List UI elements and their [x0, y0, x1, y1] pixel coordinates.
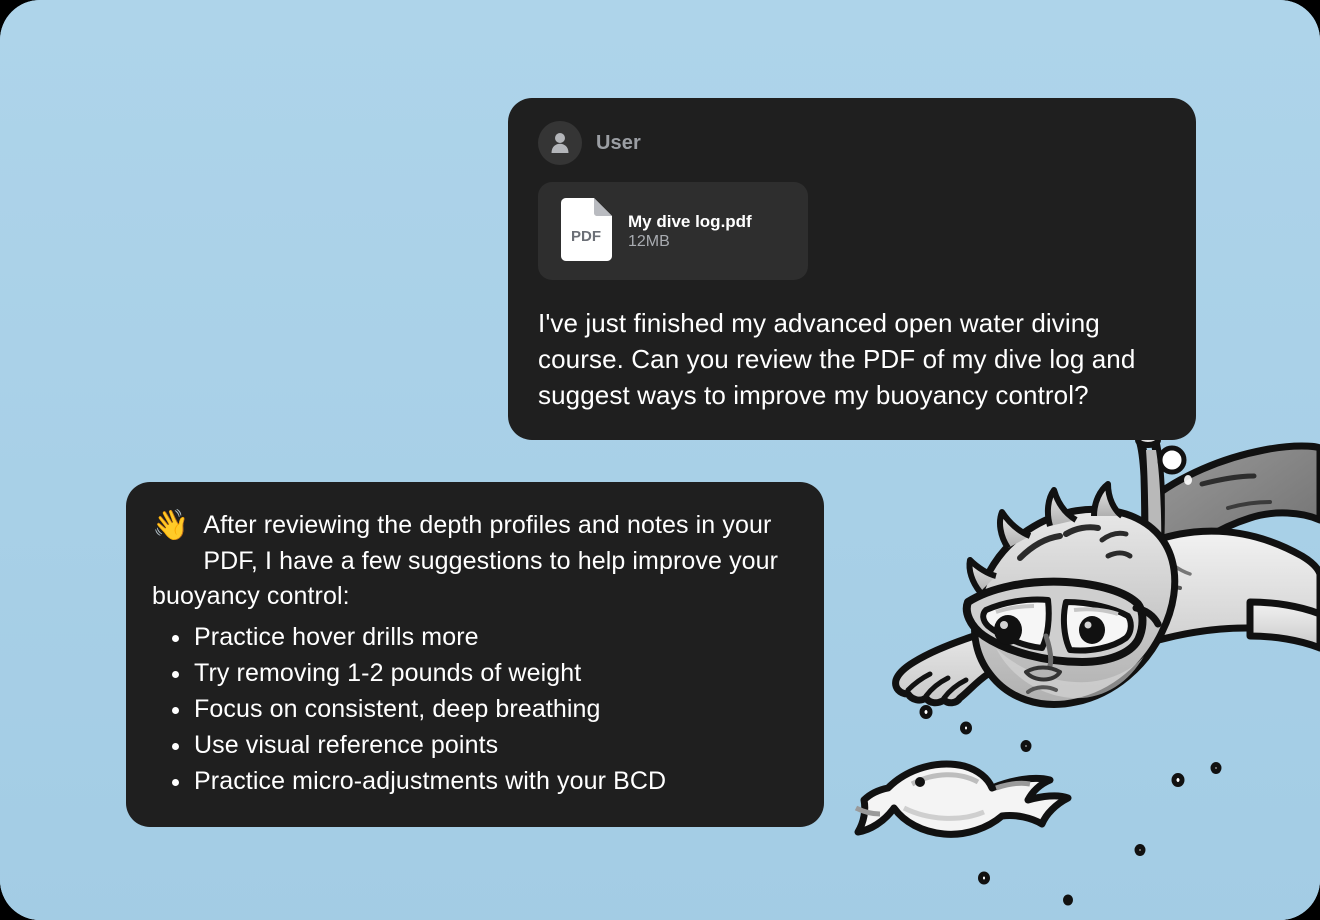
pdf-file-icon: PDF — [556, 198, 612, 264]
waving-hand-emoji: 👋 — [152, 508, 189, 545]
list-item: Practice hover drills more — [194, 619, 794, 655]
user-role-label: User — [596, 132, 641, 155]
app-canvas: User PDF My dive log.pdf 12MB I've just … — [0, 0, 1320, 920]
list-item: Practice micro-adjustments with your BCD — [194, 763, 794, 799]
user-message-text: I've just finished my advanced open wate… — [538, 306, 1168, 414]
user-header: User — [538, 120, 1168, 166]
file-meta: My dive log.pdf 12MB — [628, 211, 790, 251]
snorkeler-diving-illustration — [850, 380, 1320, 920]
diver-figure — [896, 435, 1320, 704]
attachment-card[interactable]: PDF My dive log.pdf 12MB — [538, 182, 808, 280]
fish-illustration — [856, 764, 1068, 834]
list-item: Try removing 1-2 pounds of weight — [194, 655, 794, 691]
assistant-message-bubble: 👋 After reviewing the depth profiles and… — [126, 482, 824, 827]
assistant-intro-text: After reviewing the depth profiles and n… — [152, 508, 794, 615]
svg-text:PDF: PDF — [571, 228, 601, 245]
list-item: Focus on consistent, deep breathing — [194, 691, 794, 727]
attachment-file-size: 12MB — [628, 233, 670, 250]
list-item: Use visual reference points — [194, 727, 794, 763]
suggestion-list: Practice hover drills more Try removing … — [152, 619, 794, 799]
attachment-file-name: My dive log.pdf — [628, 212, 752, 231]
user-message-bubble: User PDF My dive log.pdf 12MB I've just … — [508, 98, 1196, 440]
person-avatar-icon — [538, 121, 582, 165]
